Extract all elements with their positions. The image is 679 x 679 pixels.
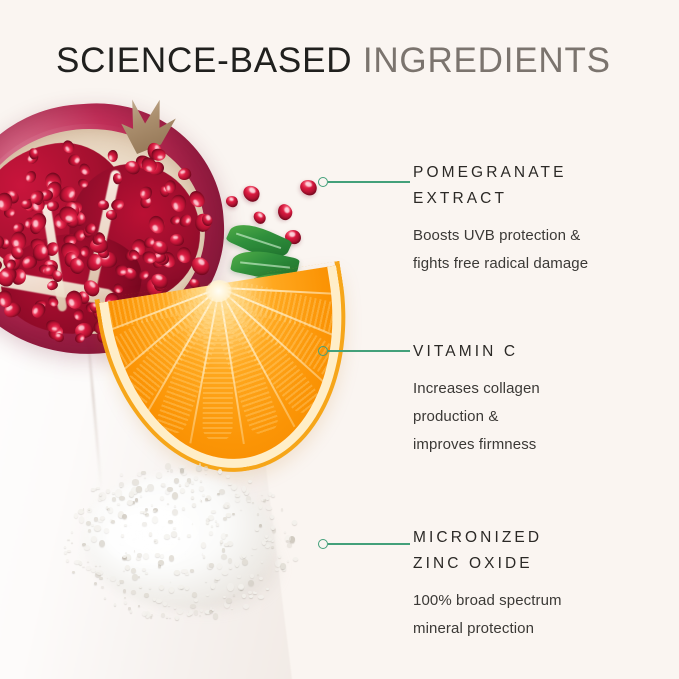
powder-grain xyxy=(232,513,235,515)
powder-grain xyxy=(121,534,124,536)
powder-grain xyxy=(156,472,161,478)
powder-grain xyxy=(107,577,108,578)
powder-grain xyxy=(86,521,91,525)
powder-grain xyxy=(205,473,208,475)
powder-grain xyxy=(67,539,70,541)
connector-line xyxy=(328,181,410,183)
powder-grain xyxy=(153,598,156,601)
powder-grain xyxy=(156,599,161,602)
powder-grain xyxy=(83,508,85,510)
powder-grain xyxy=(237,575,240,578)
powder-grain xyxy=(221,533,226,539)
powder-grain xyxy=(248,480,252,483)
powder-grain xyxy=(174,478,179,483)
powder-grain xyxy=(71,531,74,533)
powder-grain xyxy=(123,570,125,572)
powder-grain xyxy=(175,616,179,621)
powder-grain xyxy=(151,614,152,616)
powder-grain xyxy=(182,507,185,510)
connector-vitamin-c xyxy=(318,345,410,357)
powder-grain xyxy=(204,466,208,470)
powder-grain xyxy=(194,610,198,614)
ingredient-name: MICRONIZED ZINC OXIDE xyxy=(413,525,562,577)
powder-grain xyxy=(99,577,103,580)
powder-grain xyxy=(211,525,213,527)
powder-grain xyxy=(200,480,202,481)
powder-grain xyxy=(242,559,248,565)
powder-grain xyxy=(287,560,289,562)
powder-grain xyxy=(191,496,195,499)
connector-pomegranate xyxy=(318,176,410,188)
powder-grain xyxy=(130,610,133,613)
powder-grain xyxy=(281,508,283,511)
powder-grain xyxy=(161,613,165,617)
powder-grain xyxy=(242,594,246,598)
powder-grain xyxy=(266,588,269,590)
powder-grain xyxy=(154,539,156,541)
powder-grain xyxy=(227,583,234,591)
powder-grain xyxy=(174,570,180,575)
powder-grain xyxy=(127,500,132,505)
powder-grain xyxy=(131,590,136,594)
powder-grain xyxy=(169,555,174,561)
powder-grain xyxy=(151,504,153,506)
powder-grain xyxy=(252,502,253,503)
powder-grain xyxy=(114,603,116,606)
powder-grain xyxy=(185,572,189,574)
powder-grain xyxy=(166,616,168,618)
powder-grain xyxy=(216,523,219,525)
powder-grain xyxy=(112,492,114,494)
powder-grain xyxy=(261,498,265,501)
powder-grain xyxy=(185,482,189,485)
powder-grain xyxy=(91,488,94,490)
powder-grain xyxy=(110,576,115,582)
powder-grain xyxy=(71,542,73,543)
powder-grain xyxy=(226,598,232,603)
ingredient-name: VITAMIN C xyxy=(413,339,540,365)
page-title-dark: SCIENCE-BASED xyxy=(56,41,352,80)
powder-grain xyxy=(171,531,177,536)
powder-grain xyxy=(223,596,225,598)
powder-grain xyxy=(266,497,269,500)
powder-grain xyxy=(79,561,83,565)
powder-grain xyxy=(145,508,148,511)
ingredient-description: 100% broad spectrum mineral protection xyxy=(413,587,562,643)
powder-grain xyxy=(271,494,274,497)
powder-grain xyxy=(106,489,110,493)
powder-grain xyxy=(168,520,172,523)
powder-grain xyxy=(266,506,272,510)
powder-grain xyxy=(229,567,232,570)
ingredients-infographic: SCIENCE-BASED INGREDIENTS POMEGRANATE EX… xyxy=(0,0,679,679)
powder-grain xyxy=(218,469,222,474)
powder-grain xyxy=(136,556,141,560)
pomegranate-aril xyxy=(80,246,90,257)
powder-grain xyxy=(259,505,263,508)
powder-grain xyxy=(286,540,289,542)
powder-grain xyxy=(271,546,274,548)
powder-grain xyxy=(222,571,228,575)
powder-grain xyxy=(224,543,229,546)
powder-grain xyxy=(212,609,214,611)
powder-grain xyxy=(66,559,69,562)
powder-grain xyxy=(167,503,169,504)
powder-grain xyxy=(169,617,171,618)
powder-grain xyxy=(169,587,175,593)
powder-grain xyxy=(219,489,225,494)
powder-grain xyxy=(284,531,286,533)
powder-grain xyxy=(104,597,107,600)
powder-grain xyxy=(91,568,95,572)
pomegranate-aril xyxy=(31,213,46,230)
powder-grain xyxy=(120,473,123,476)
powder-grain xyxy=(82,566,84,567)
loose-pomegranate-aril xyxy=(240,183,262,205)
powder-grain xyxy=(136,486,141,492)
powder-grain xyxy=(96,487,100,489)
ingredient-description: Increases collagen production & improves… xyxy=(413,375,540,459)
ingredient-name: POMEGRANATE EXTRACT xyxy=(413,160,588,212)
powder-grain xyxy=(261,494,263,495)
ingredient-block-zinc-oxide: MICRONIZED ZINC OXIDE 100% broad spectru… xyxy=(413,525,562,643)
powder-grain xyxy=(145,488,148,491)
powder-grain xyxy=(280,563,285,569)
powder-grain xyxy=(79,516,85,523)
powder-grain xyxy=(213,613,219,619)
zinc-oxide-powder-photo xyxy=(58,452,310,652)
loose-pomegranate-aril xyxy=(275,202,294,222)
powder-grain xyxy=(132,574,138,581)
connector-dot-icon xyxy=(318,346,328,356)
powder-grain xyxy=(278,555,281,558)
powder-grain xyxy=(91,524,94,526)
powder-grain xyxy=(144,593,149,597)
powder-grain xyxy=(88,529,91,532)
powder-grain xyxy=(167,470,169,472)
powder-grain xyxy=(258,595,264,599)
powder-grain xyxy=(250,574,254,579)
powder-grain xyxy=(196,465,203,471)
ingredient-block-pomegranate: POMEGRANATE EXTRACT Boosts UVB protectio… xyxy=(413,160,588,278)
powder-grain xyxy=(123,555,126,558)
powder-grain xyxy=(191,489,193,492)
powder-grain xyxy=(142,522,146,526)
powder-grain xyxy=(91,536,97,542)
powder-grain xyxy=(143,553,149,559)
powder-grain xyxy=(217,493,219,495)
powder-grain xyxy=(177,609,182,614)
loose-pomegranate-aril xyxy=(225,195,239,208)
powder-grain xyxy=(150,616,152,618)
powder-grain xyxy=(239,586,243,589)
powder-grain xyxy=(255,528,259,531)
powder-grain xyxy=(104,528,109,532)
powder-grain xyxy=(164,534,170,538)
powder-grain xyxy=(187,534,191,537)
connector-line xyxy=(328,543,410,545)
powder-grain xyxy=(205,498,208,500)
ingredient-photo-collage xyxy=(0,0,400,679)
powder-grain xyxy=(159,585,164,590)
powder-grain xyxy=(226,513,231,516)
powder-grain xyxy=(243,604,249,609)
powder-grain xyxy=(179,484,180,485)
powder-grain xyxy=(174,505,176,507)
powder-grain xyxy=(275,568,279,572)
powder-grain xyxy=(252,546,256,550)
loose-pomegranate-aril xyxy=(298,178,319,198)
powder-grain xyxy=(270,515,275,519)
connector-zinc-oxide xyxy=(318,538,410,550)
powder-grain xyxy=(211,584,216,588)
powder-grain xyxy=(101,586,104,588)
powder-grain xyxy=(191,481,195,484)
powder-grain xyxy=(187,613,191,616)
powder-grain xyxy=(149,532,152,535)
powder-grain xyxy=(293,557,299,561)
powder-grain xyxy=(132,479,139,485)
powder-grain xyxy=(99,540,105,547)
powder-grain xyxy=(292,520,297,525)
powder-grain xyxy=(138,605,139,607)
powder-grain xyxy=(199,615,201,616)
powder-grain xyxy=(206,521,209,524)
powder-grain xyxy=(108,507,113,512)
ingredient-block-vitamin-c: VITAMIN C Increases collagen production … xyxy=(413,339,540,459)
powder-grain xyxy=(141,471,145,475)
powder-grain xyxy=(220,543,222,545)
powder-grain xyxy=(128,607,131,609)
powder-grain xyxy=(259,577,262,580)
powder-grain xyxy=(262,540,266,544)
powder-grain xyxy=(124,601,127,604)
page-title-gray: INGREDIENTS xyxy=(352,41,611,80)
powder-grain xyxy=(117,503,119,505)
connector-dot-icon xyxy=(318,539,328,549)
powder-grain xyxy=(161,483,166,487)
powder-grain xyxy=(170,469,173,472)
powder-grain xyxy=(138,576,140,578)
powder-grain xyxy=(72,571,75,573)
powder-grain xyxy=(94,517,97,521)
powder-grain xyxy=(226,475,230,478)
powder-grain xyxy=(124,597,126,598)
powder-grain xyxy=(215,520,217,522)
powder-grain xyxy=(253,592,257,594)
connector-line xyxy=(328,350,410,352)
powder-grain xyxy=(287,543,292,547)
powder-grain xyxy=(200,609,203,612)
powder-grain xyxy=(194,476,198,480)
powder-grain xyxy=(67,550,71,552)
powder-grain xyxy=(192,503,196,507)
powder-grain xyxy=(199,463,201,465)
loose-pomegranate-aril xyxy=(251,209,268,226)
powder-grain xyxy=(94,525,100,531)
powder-grain xyxy=(178,585,183,589)
powder-grain xyxy=(235,498,240,502)
powder-grain xyxy=(242,486,246,491)
powder-grain xyxy=(99,493,102,496)
powder-grain xyxy=(192,592,197,597)
page-title: SCIENCE-BASED INGREDIENTS xyxy=(56,40,611,82)
powder-grain xyxy=(180,468,185,472)
powder-grain xyxy=(137,553,142,556)
powder-grain xyxy=(135,498,138,501)
powder-grain xyxy=(64,546,65,547)
powder-grain xyxy=(84,545,90,550)
powder-grain xyxy=(147,484,153,491)
ingredient-description: Boosts UVB protection & fights free radi… xyxy=(413,222,588,278)
powder-grain xyxy=(248,591,252,594)
powder-grain xyxy=(139,586,142,588)
powder-grain xyxy=(112,497,117,501)
powder-grain xyxy=(96,570,103,575)
powder-grain xyxy=(94,582,97,585)
powder-grain xyxy=(74,513,79,518)
powder-grain xyxy=(275,560,281,567)
connector-dot-icon xyxy=(318,177,328,187)
powder-grain xyxy=(86,566,90,571)
